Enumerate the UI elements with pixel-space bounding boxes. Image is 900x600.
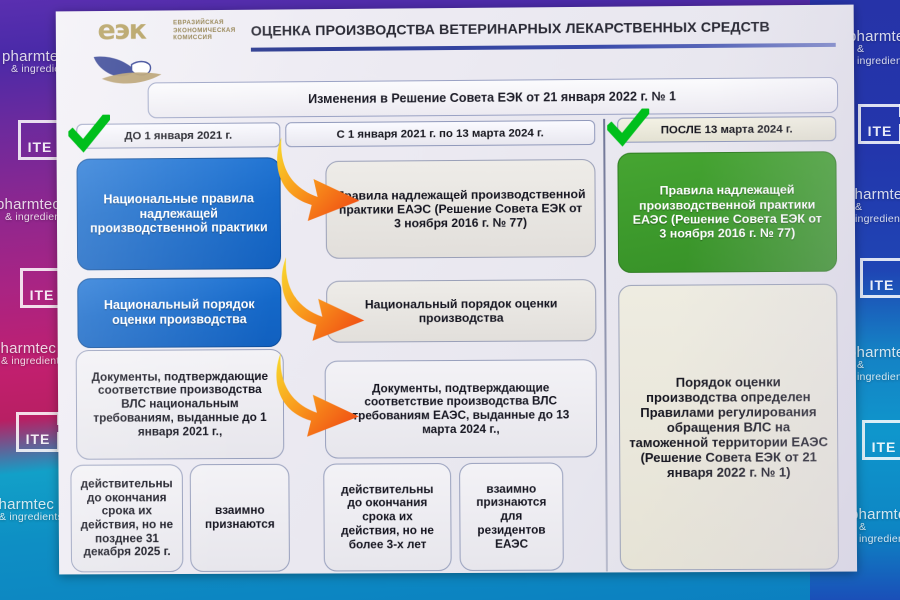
ite-logo-icon: ITE [858, 104, 900, 144]
presentation-slide: еэк ЕВРАЗИЙСКАЯ ЭКОНОМИЧЕСКАЯ КОМИССИЯ О… [56, 5, 857, 575]
ite-logo-icon: ITE [18, 120, 62, 160]
card-valid-until-2025: действительны до окончания срока их дейс… [70, 464, 183, 572]
ite-logo-icon: ITE [16, 412, 60, 452]
card-national-gmp-rules: Национальные правила надлежащей производ… [76, 157, 281, 270]
ite-logo-icon: ITE [860, 258, 900, 298]
green-check-icon [68, 115, 110, 153]
transition-arrow-icon [273, 135, 369, 228]
transition-arrow-icon [278, 255, 374, 347]
column-divider [603, 119, 608, 572]
card-national-assessment-order: Национальный порядок оценки производства [77, 277, 281, 348]
card-national-documents: Документы, подтверждающие соответствие п… [76, 349, 285, 460]
card-valid-max-3-years: действительны до окончания срока их дейс… [323, 463, 451, 571]
eec-logo-wordmark: ЕВРАЗИЙСКАЯ ЭКОНОМИЧЕСКАЯ КОМИССИЯ [173, 19, 236, 42]
eec-logo-acronym: еэк [97, 15, 145, 46]
page-title: ОЦЕНКА ПРОИЗВОДСТВА ВЕТЕРИНАРНЫХ ЛЕКАРСТ… [251, 19, 838, 40]
card-mutually-recognized-eaeu: взаимно признаются для резидентов ЕАЭС [459, 463, 564, 571]
card-eaeu-gmp-rules-current: Правила надлежащей производственной прак… [617, 151, 837, 273]
changes-banner: Изменения в Решение Совета ЕЭК от 21 янв… [148, 77, 839, 118]
green-check-icon [607, 109, 649, 147]
title-underline [251, 43, 836, 52]
transition-arrow-icon [273, 350, 369, 442]
slide-header: еэк ЕВРАЗИЙСКАЯ ЭКОНОМИЧЕСКАЯ КОМИССИЯ О… [56, 5, 854, 60]
card-mutually-recognized: взаимно признаются [190, 464, 290, 572]
card-assessment-order-current: Порядок оценки производства определен Пр… [618, 284, 839, 571]
ite-logo-icon: ITE [862, 420, 900, 460]
column-header-after-2024: ПОСЛЕ 13 марта 2024 г. [617, 116, 836, 143]
